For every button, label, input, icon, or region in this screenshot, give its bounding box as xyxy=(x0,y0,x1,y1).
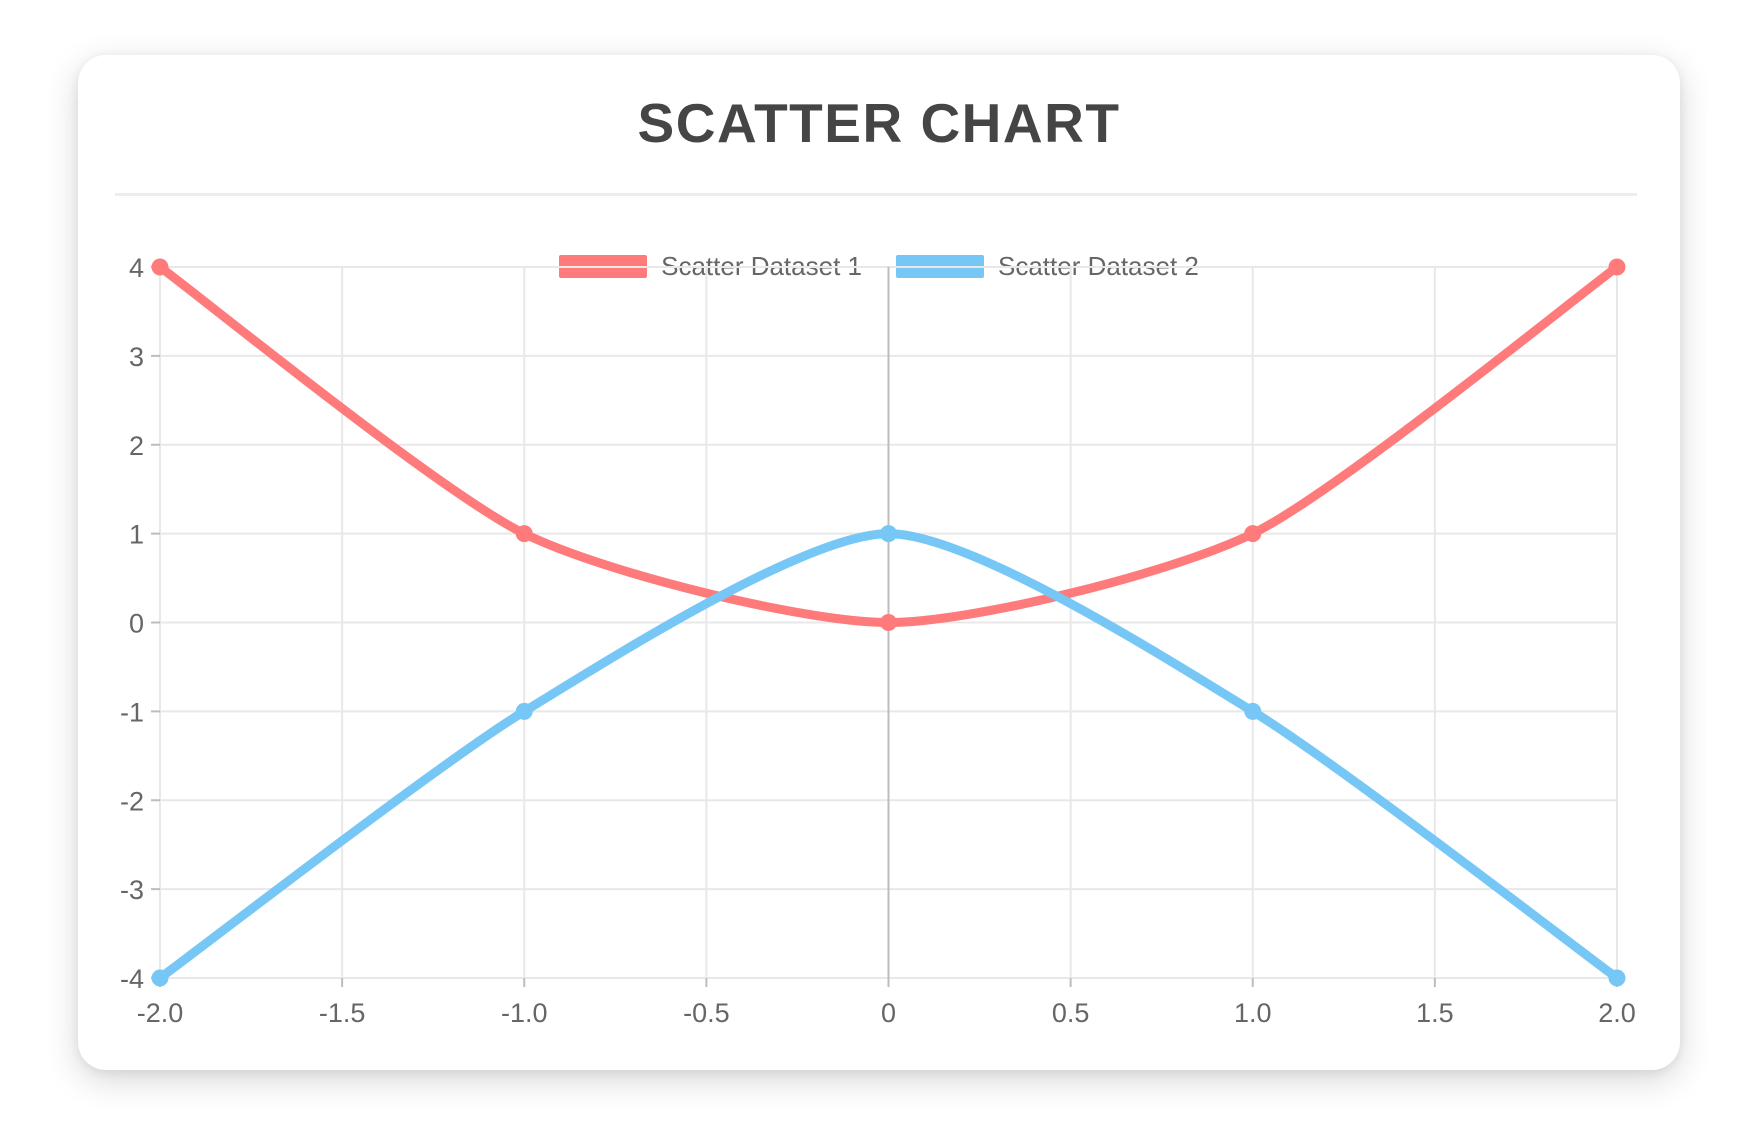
title-divider xyxy=(115,193,1637,196)
data-point[interactable] xyxy=(516,703,533,720)
data-point[interactable] xyxy=(880,525,897,542)
y-axis-tick-label: -2 xyxy=(120,786,144,816)
page-title: SCATTER CHART xyxy=(78,93,1680,154)
x-axis-tick-label: 1.0 xyxy=(1234,998,1272,1028)
legend-color-swatch-dataset-2 xyxy=(896,255,984,278)
data-point[interactable] xyxy=(1244,703,1261,720)
data-point[interactable] xyxy=(152,970,169,987)
y-axis-tick-label: 2 xyxy=(129,431,144,461)
y-axis-tick-label: -1 xyxy=(120,697,144,727)
x-axis-tick-label: -1.5 xyxy=(319,998,366,1028)
x-axis-tick-label: -2.0 xyxy=(137,998,184,1028)
legend-label-dataset-2: Scatter Dataset 2 xyxy=(998,251,1199,282)
chart-card: SCATTER CHART Scatter Dataset 1 Scatter … xyxy=(78,55,1680,1070)
data-point[interactable] xyxy=(880,614,897,631)
x-axis-tick-label: 2.0 xyxy=(1598,998,1636,1028)
y-axis-tick-label: -3 xyxy=(120,875,144,905)
y-axis-tick-label: 3 xyxy=(129,342,144,372)
series-1 xyxy=(152,259,1626,632)
data-point[interactable] xyxy=(1244,525,1261,542)
series-line xyxy=(160,534,1617,978)
y-axis-tick-label: -4 xyxy=(120,964,144,994)
x-axis-tick-label: -1.0 xyxy=(501,998,548,1028)
series-line xyxy=(160,267,1617,623)
legend-item-dataset-2[interactable]: Scatter Dataset 2 xyxy=(896,251,1199,282)
series-2 xyxy=(152,525,1626,986)
legend-label-dataset-1: Scatter Dataset 1 xyxy=(661,251,862,282)
x-axis-tick-label: 0 xyxy=(881,998,896,1028)
y-axis-tick-label: 0 xyxy=(129,609,144,639)
legend-color-swatch-dataset-1 xyxy=(559,255,647,278)
x-axis-tick-label: 0.5 xyxy=(1052,998,1090,1028)
scatter-plot-svg[interactable]: 43210-1-2-3-4-2.0-1.5-1.0-0.500.51.01.52… xyxy=(78,55,1680,1070)
legend-item-dataset-1[interactable]: Scatter Dataset 1 xyxy=(559,251,862,282)
data-point[interactable] xyxy=(516,525,533,542)
data-point[interactable] xyxy=(1609,970,1626,987)
x-axis-tick-label: -0.5 xyxy=(683,998,730,1028)
x-axis-tick-label: 1.5 xyxy=(1416,998,1454,1028)
plot-area: 43210-1-2-3-4-2.0-1.5-1.0-0.500.51.01.52… xyxy=(78,55,1680,1070)
chart-legend: Scatter Dataset 1 Scatter Dataset 2 xyxy=(78,251,1680,282)
y-axis-tick-label: 1 xyxy=(129,520,144,550)
screenshot-root: SCATTER CHART Scatter Dataset 1 Scatter … xyxy=(0,0,1763,1144)
